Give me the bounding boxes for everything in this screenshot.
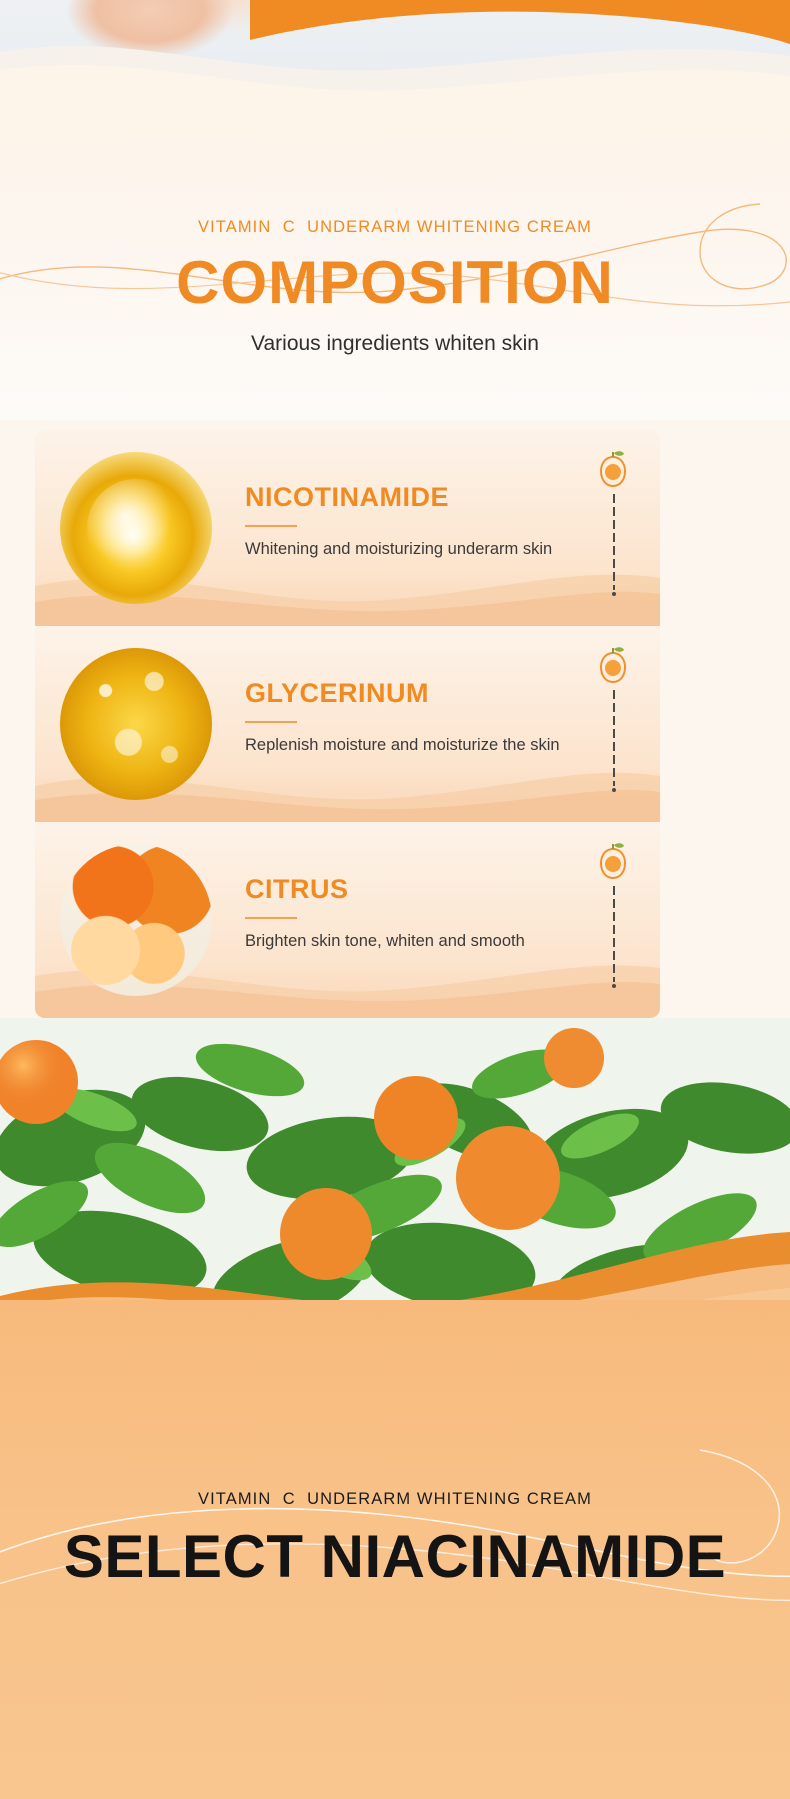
orange-grove-photo xyxy=(0,1018,790,1340)
ingredient-text-block: CITRUS Brighten skin tone, whiten and sm… xyxy=(245,874,605,952)
ingredient-text-block: NICOTINAMIDE Whitening and moisturizing … xyxy=(245,482,605,560)
ingredient-name: CITRUS xyxy=(245,874,605,905)
ingredient-divider xyxy=(245,917,297,919)
footer-title: SELECT NIACINAMIDE xyxy=(0,1522,790,1591)
ingredient-thumbnail xyxy=(60,452,212,604)
ingredient-card[interactable]: CITRUS Brighten skin tone, whiten and sm… xyxy=(35,822,660,1018)
ingredient-card[interactable]: GLYCERINUM Replenish moisture and moistu… xyxy=(35,626,660,822)
ingredient-thumbnail xyxy=(60,648,212,800)
badge-dotted-line xyxy=(613,494,615,590)
ingredient-name: NICOTINAMIDE xyxy=(245,482,605,513)
ingredient-divider xyxy=(245,721,297,723)
ingredient-description: Brighten skin tone, whiten and smooth xyxy=(245,930,605,952)
footer-eyebrow: VITAMIN C UNDERARM WHITENING CREAM xyxy=(0,1490,790,1509)
orange-fruit-icon xyxy=(593,644,633,688)
ingredient-name: GLYCERINUM xyxy=(245,678,605,709)
top-wave-divider xyxy=(0,0,790,140)
badge-dotted-line xyxy=(613,886,615,982)
page-title: COMPOSITION xyxy=(0,248,790,317)
page-subtitle: Various ingredients whiten skin xyxy=(0,332,790,356)
ingredient-description: Whitening and moisturizing underarm skin xyxy=(245,538,605,560)
ingredient-card-list: NICOTINAMIDE Whitening and moisturizing … xyxy=(35,430,660,1018)
ingredient-card[interactable]: NICOTINAMIDE Whitening and moisturizing … xyxy=(35,430,660,626)
orange-fruit-icon xyxy=(593,448,633,492)
page-header: VITAMIN C UNDERARM WHITENING CREAM COMPO… xyxy=(0,120,790,420)
orange-fruit-icon xyxy=(593,840,633,884)
badge-dotted-line xyxy=(613,690,615,786)
ingredient-description: Replenish moisture and moisturize the sk… xyxy=(245,734,605,756)
ingredient-divider xyxy=(245,525,297,527)
product-detail-page: VITAMIN C UNDERARM WHITENING CREAM COMPO… xyxy=(0,0,790,1799)
header-eyebrow: VITAMIN C UNDERARM WHITENING CREAM xyxy=(0,218,790,237)
ingredient-text-block: GLYCERINUM Replenish moisture and moistu… xyxy=(245,678,605,756)
ingredient-thumbnail xyxy=(60,844,212,996)
page-footer: VITAMIN C UNDERARM WHITENING CREAM SELEC… xyxy=(0,1300,790,1799)
